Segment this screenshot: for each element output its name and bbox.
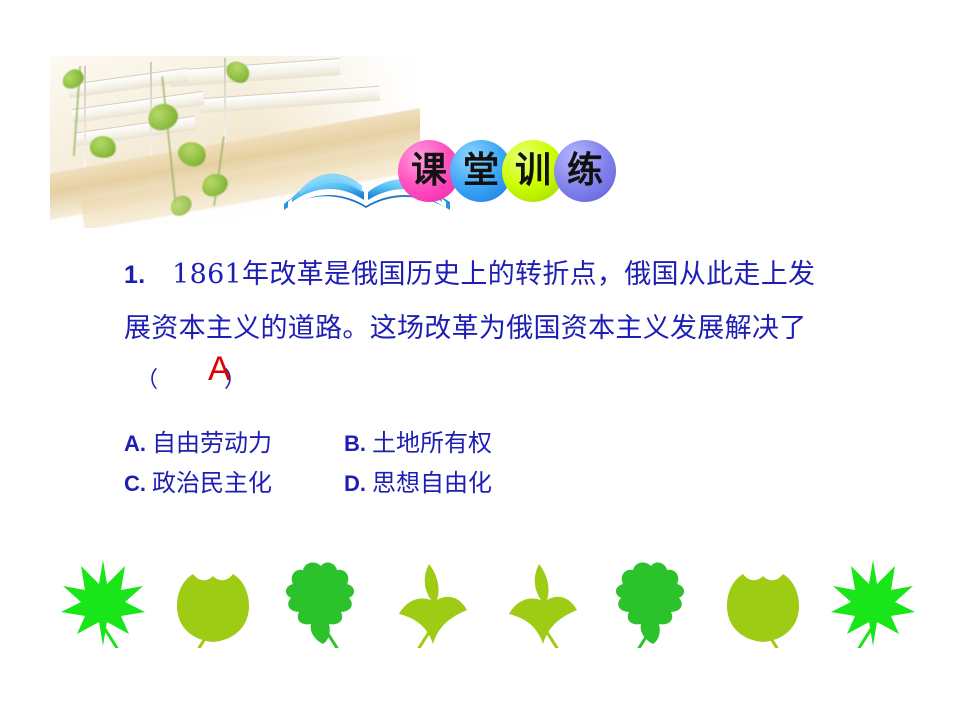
option-a-letter: A. bbox=[124, 431, 146, 457]
bubble-char: 课 bbox=[411, 153, 447, 189]
answer-blank: （ ） A bbox=[124, 356, 524, 400]
options-row-2: C. 政治民主化 D. 思想自由化 bbox=[124, 460, 644, 500]
leaf-decoration-row bbox=[48, 556, 928, 648]
option-b-letter: B. bbox=[344, 431, 366, 457]
slide-canvas: 课 堂 训 练 1. 1861年改革是俄国历史上的转折点，俄国从此走上发 展资本… bbox=[0, 0, 960, 720]
leaf-icon-oak bbox=[605, 556, 701, 648]
bubble-char: 堂 bbox=[463, 153, 499, 189]
option-d-letter: D. bbox=[344, 471, 366, 497]
option-c[interactable]: C. 政治民主化 bbox=[124, 463, 344, 498]
header-banner: 课 堂 训 练 bbox=[50, 56, 650, 228]
bubble-char: 训 bbox=[515, 153, 551, 189]
option-a-text: 自由劳动力 bbox=[152, 423, 272, 458]
leaf-icon-maple bbox=[825, 556, 921, 648]
option-a[interactable]: A. 自由劳动力 bbox=[124, 423, 344, 458]
answer-mark: A bbox=[208, 350, 231, 389]
leaf-icon-simple bbox=[715, 556, 811, 648]
options-list: A. 自由劳动力 B. 土地所有权 C. 政治民主化 D. 思想自由化 bbox=[124, 420, 644, 500]
option-d-text: 思想自由化 bbox=[372, 463, 492, 498]
bubble-char: 练 bbox=[567, 153, 603, 189]
leaf-icon-simple bbox=[165, 556, 261, 648]
bubble-lian: 练 bbox=[554, 140, 616, 202]
option-c-letter: C. bbox=[124, 471, 146, 497]
leaf-icon-maple bbox=[55, 556, 151, 648]
leaf-icon-oak bbox=[275, 556, 371, 648]
option-d[interactable]: D. 思想自由化 bbox=[344, 463, 492, 498]
option-b-text: 土地所有权 bbox=[372, 423, 492, 458]
question-number: 1. bbox=[124, 261, 145, 289]
leaf-icon-palmate bbox=[495, 556, 591, 648]
question-text: 1. 1861年改革是俄国历史上的转折点，俄国从此走上发 展资本主义的道路。这场… bbox=[124, 248, 884, 356]
question-line-2: 展资本主义的道路。这场改革为俄国资本主义发展解决了 bbox=[124, 313, 807, 344]
leaf-icon-palmate bbox=[385, 556, 481, 648]
question-line-1: 1861年改革是俄国历史上的转折点，俄国从此走上发 bbox=[172, 259, 815, 290]
paren-open: （ bbox=[136, 362, 158, 394]
option-c-text: 政治民主化 bbox=[152, 463, 272, 498]
options-row-1: A. 自由劳动力 B. 土地所有权 bbox=[124, 420, 644, 460]
option-b[interactable]: B. 土地所有权 bbox=[344, 423, 492, 458]
